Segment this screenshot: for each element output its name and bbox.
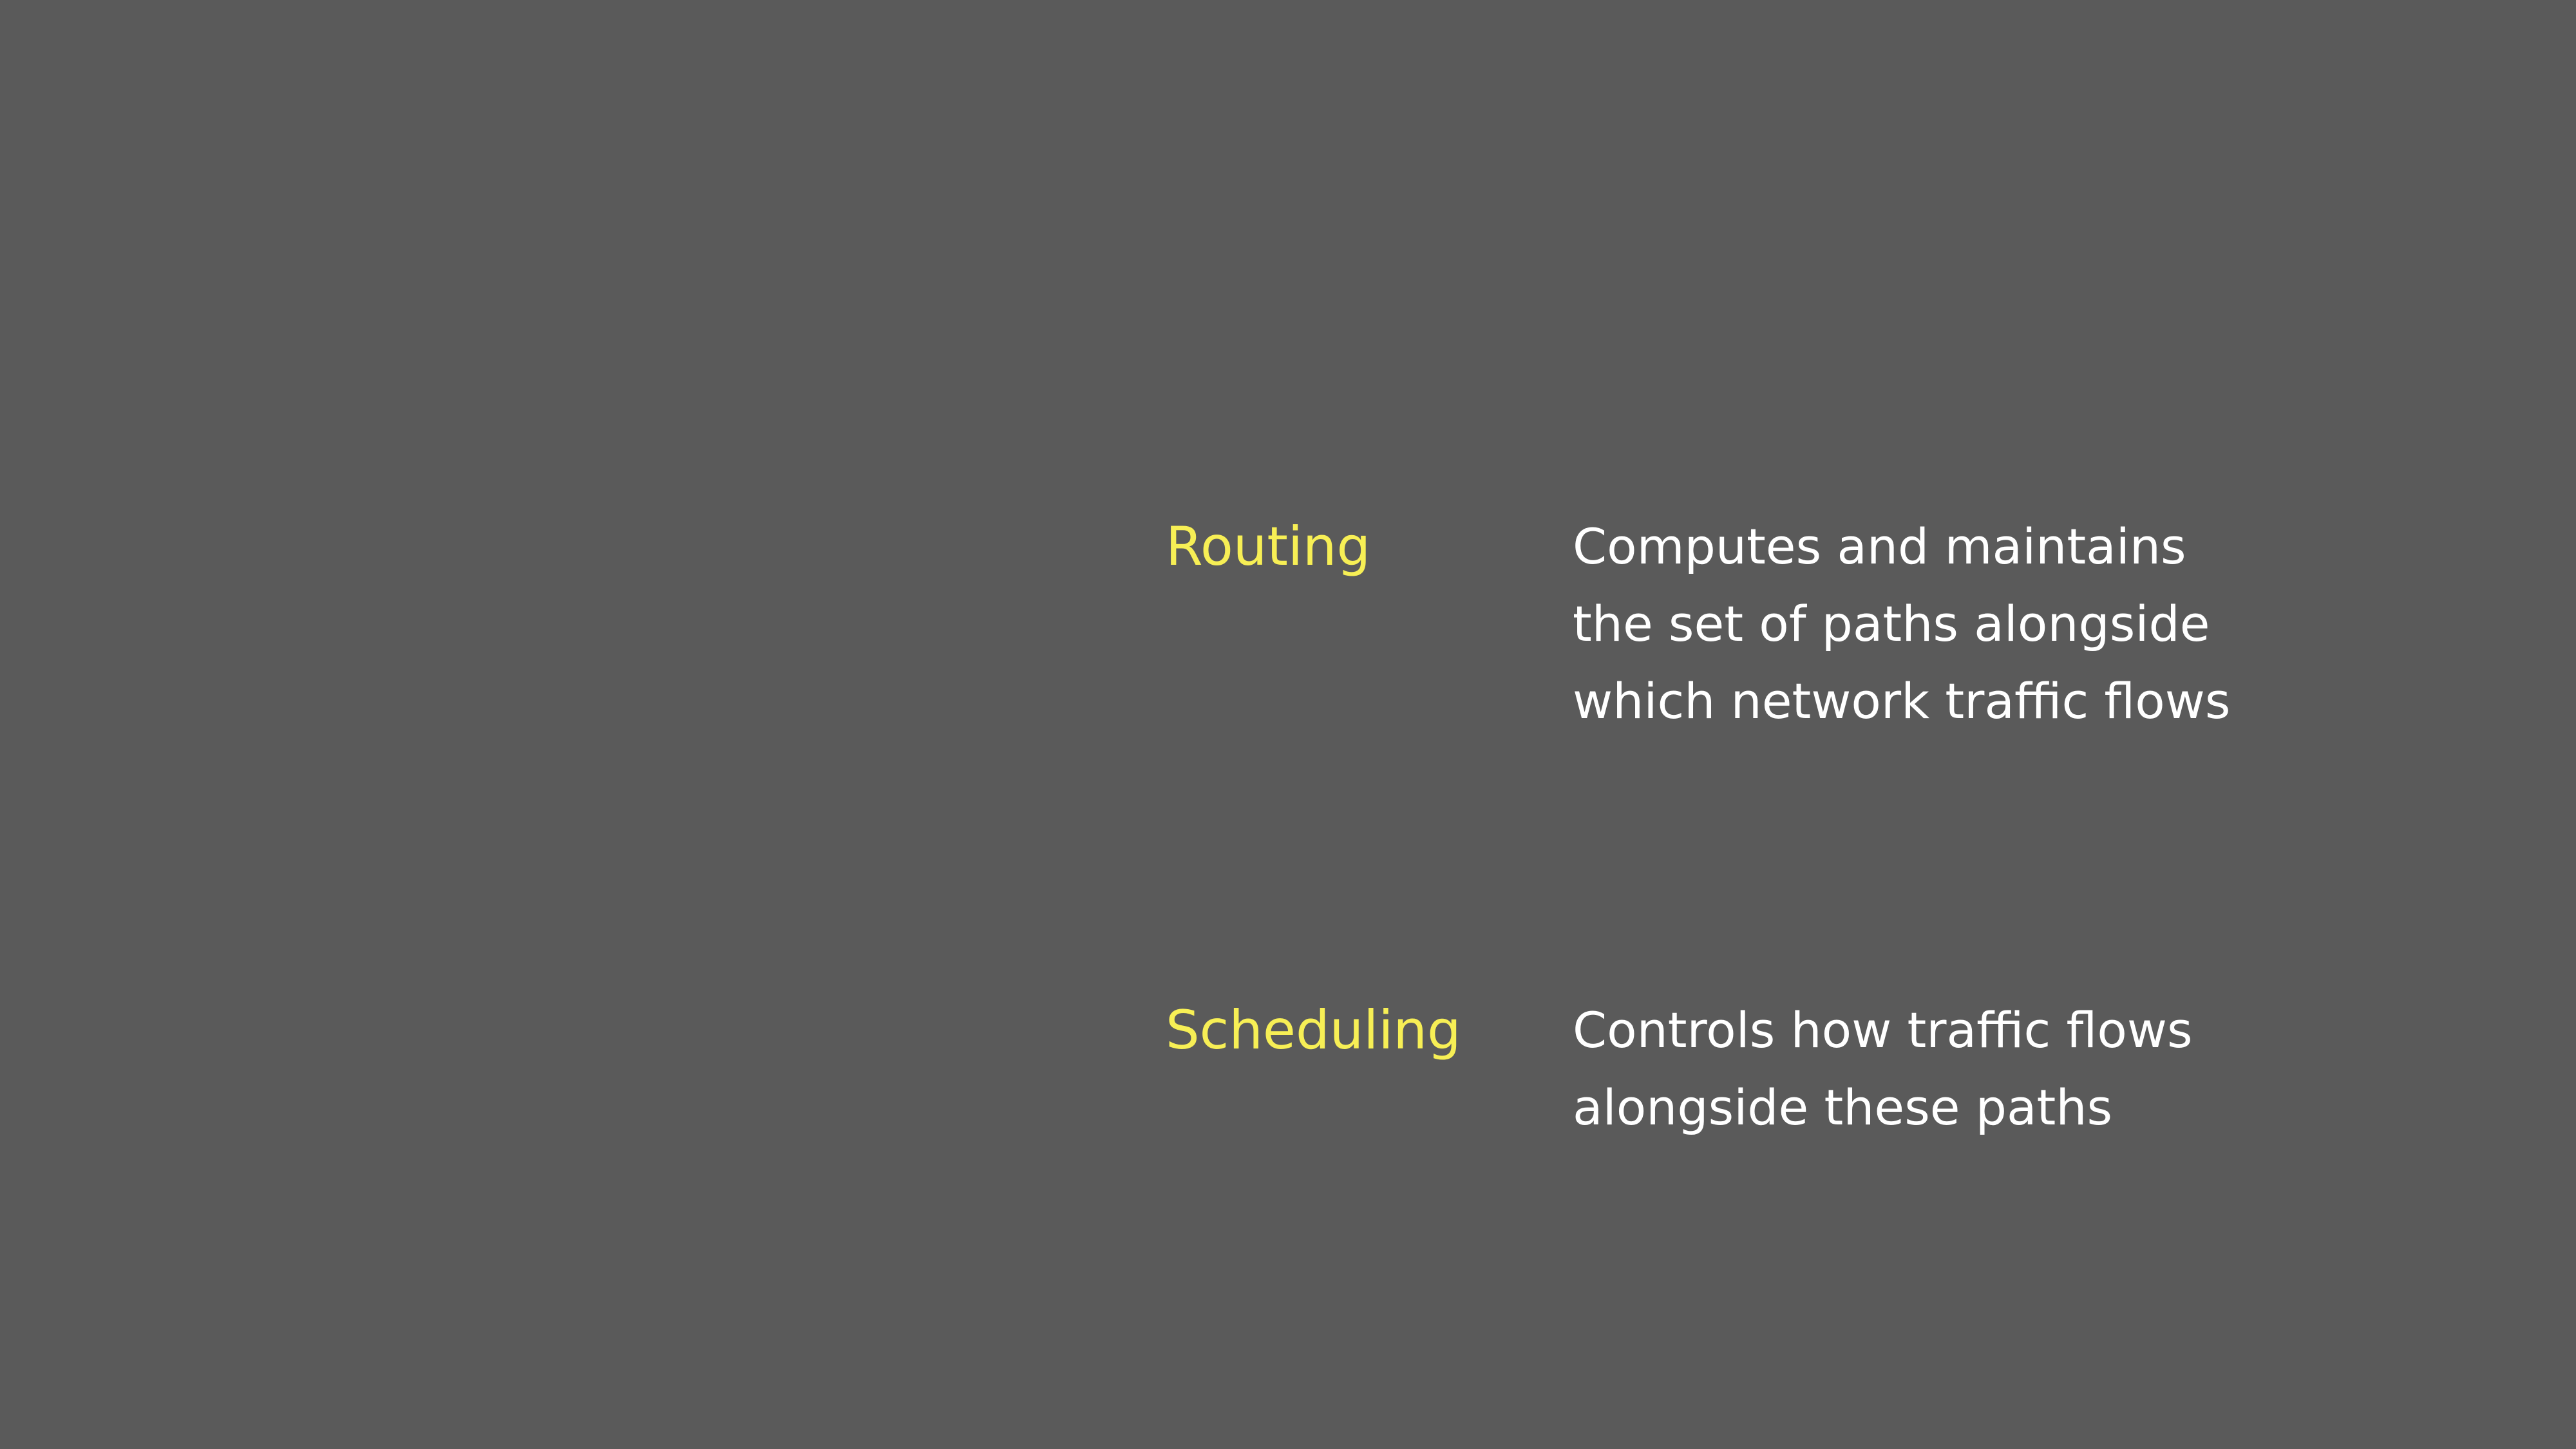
description-line: the set of paths alongside bbox=[1573, 585, 2231, 663]
description-line: alongside these paths bbox=[1573, 1069, 2193, 1146]
definition-row-routing: Routing Computes and maintains the set o… bbox=[1166, 508, 2231, 740]
definition-row-scheduling: Scheduling Controls how traffic flows al… bbox=[1166, 992, 2193, 1146]
description-line: Computes and maintains bbox=[1573, 508, 2231, 585]
slide-canvas: Routing Computes and maintains the set o… bbox=[0, 0, 2576, 1449]
description-line: Controls how traffic flows bbox=[1573, 992, 2193, 1069]
definition-term-routing: Routing bbox=[1166, 508, 1573, 585]
definition-term-scheduling: Scheduling bbox=[1166, 992, 1573, 1069]
description-line: which network traffic flows bbox=[1573, 663, 2231, 740]
definition-description-routing: Computes and maintains the set of paths … bbox=[1573, 508, 2231, 740]
definition-description-scheduling: Controls how traffic flows alongside the… bbox=[1573, 992, 2193, 1146]
